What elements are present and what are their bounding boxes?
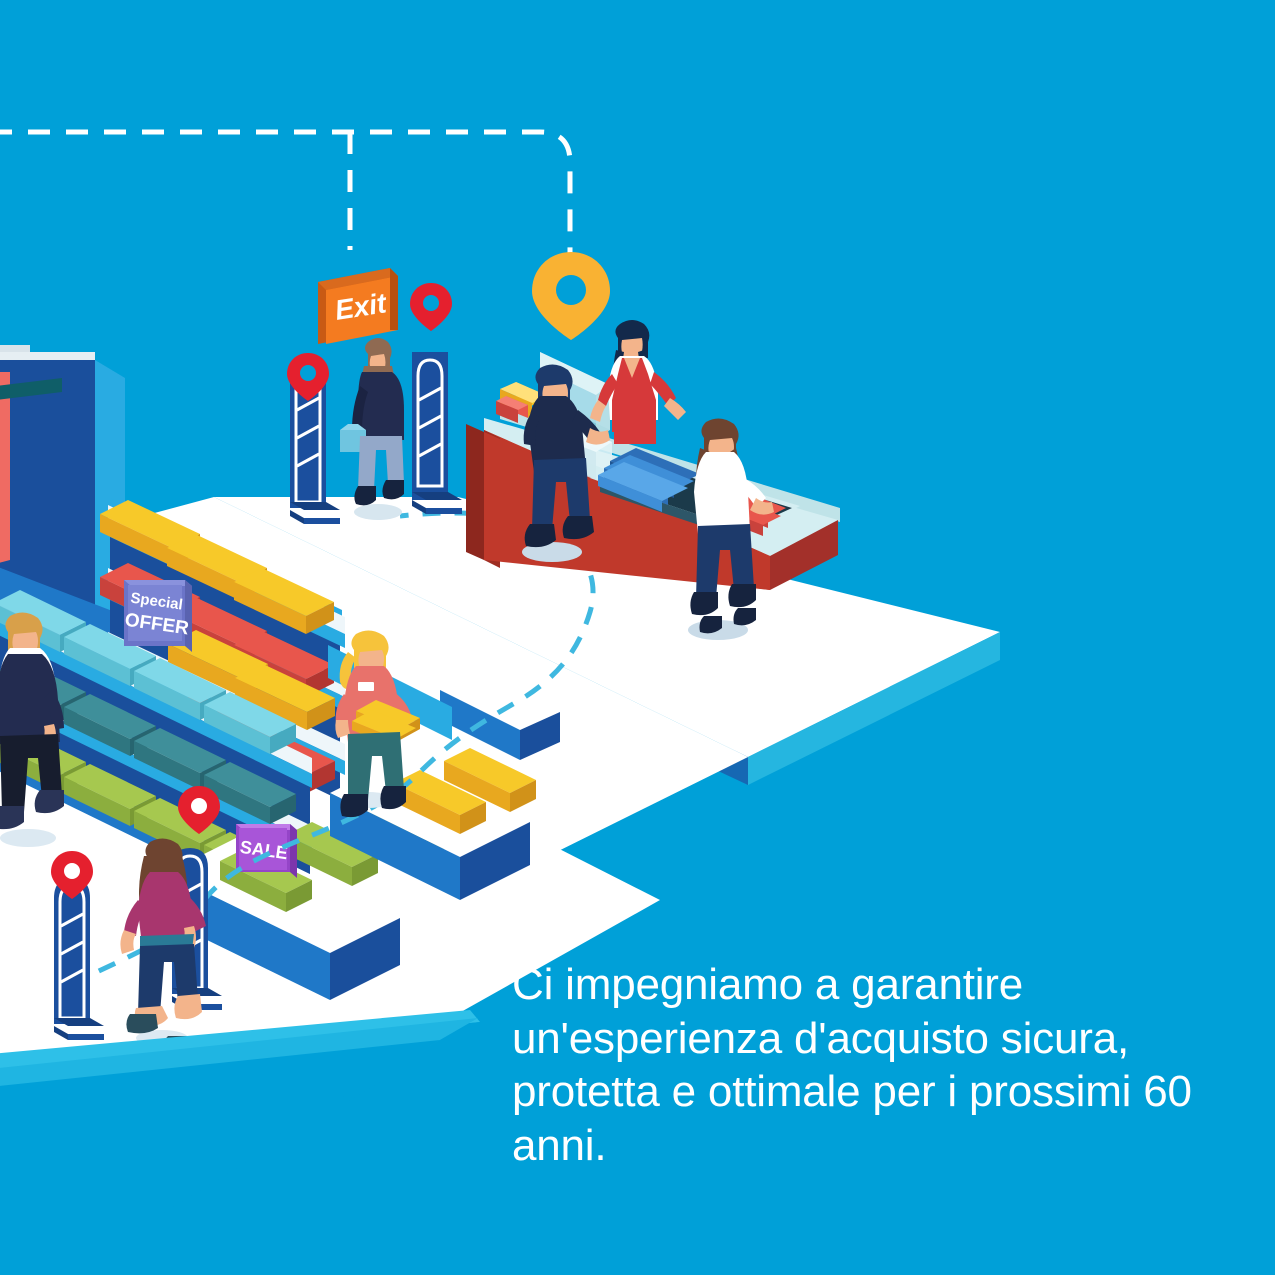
illustration-stage: Special OFFER bbox=[0, 0, 1275, 1275]
caption-text: Ci impegniamo a garantire un'esperienza … bbox=[512, 958, 1212, 1173]
sale-sign: SALE bbox=[236, 824, 297, 878]
special-offer-sign: Special OFFER bbox=[123, 580, 192, 652]
